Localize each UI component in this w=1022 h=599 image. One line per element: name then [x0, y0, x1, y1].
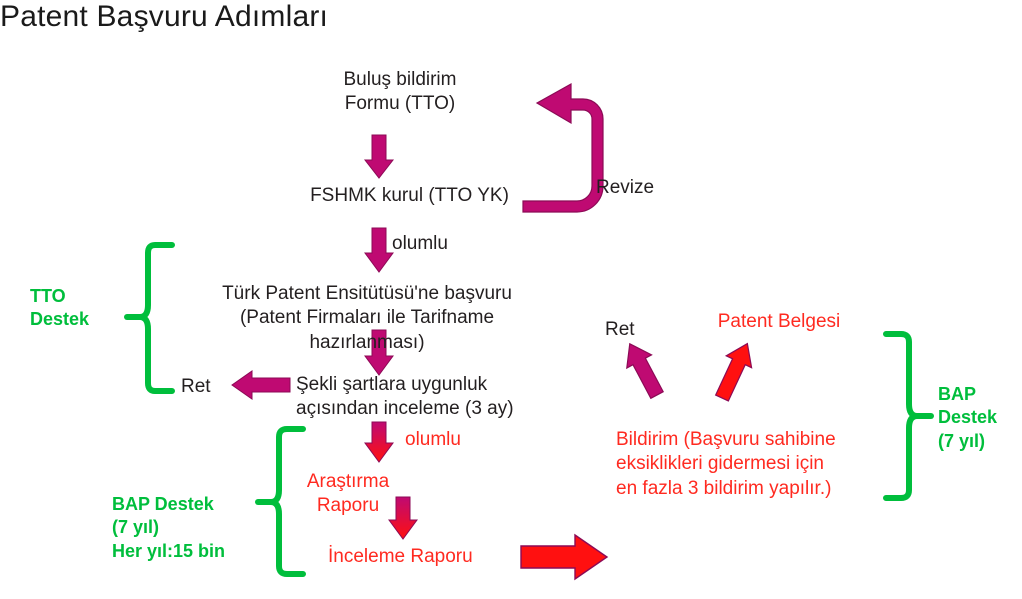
label-positive-2: olumlu	[405, 428, 495, 452]
node-turkish-patent-institute-application: Türk Patent Ensitütüsü'ne başvuru (Paten…	[172, 282, 562, 355]
node-search-report: Araştırma Raporu	[300, 470, 396, 519]
arrow-up-right-icon	[709, 338, 760, 404]
node-patent-document: Patent Belgesi	[694, 310, 864, 334]
node-notification: Bildirim (Başvuru sahibine eksiklikleri …	[616, 428, 898, 501]
arrow-left-icon	[232, 371, 290, 399]
curly-brace-icon	[127, 245, 172, 391]
label-revise: Revize	[596, 176, 686, 200]
node-invention-disclosure-form: Buluş bildirim Formu (TTO)	[300, 68, 500, 117]
node-reject-final: Ret	[605, 318, 655, 342]
node-formal-examination: Şekli şartlara uygunluk açısından incele…	[296, 373, 561, 422]
label-bap-support-right: BAP Destek (7 yıl)	[938, 383, 1016, 453]
label-bap-support-left: BAP Destek (7 yıl) Her yıl:15 bin	[112, 493, 260, 563]
arrow-down-icon	[365, 135, 393, 178]
arrow-loop-u-turn-icon	[523, 84, 603, 212]
curly-brace-icon	[258, 429, 303, 574]
node-fshmk-board: FSHMK kurul (TTO YK)	[297, 184, 522, 208]
arrow-up-left-icon	[617, 337, 669, 401]
node-reject-formal: Ret	[181, 375, 231, 399]
arrow-down-icon	[365, 228, 393, 272]
arrow-down-icon	[365, 422, 393, 462]
label-positive-1: olumlu	[392, 232, 482, 256]
label-tto-support: TTO Destek	[30, 285, 125, 332]
arrow-right-icon	[521, 535, 607, 579]
node-examination-report: İnceleme Raporu	[328, 545, 518, 569]
